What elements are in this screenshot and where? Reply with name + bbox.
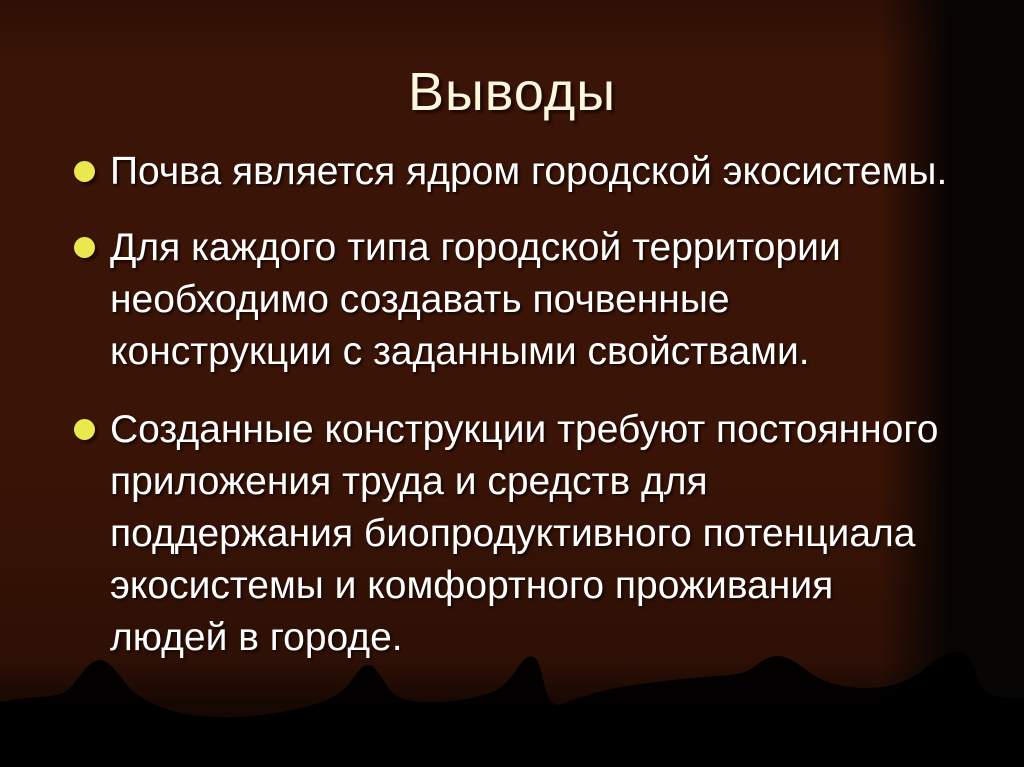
list-item: Для каждого типа городской территории не… [62,222,972,378]
page-title: Выводы [0,62,1024,122]
bullet-list: Почва является ядром городской экосистем… [62,146,972,682]
list-item-text: Почва является ядром городской экосистем… [110,146,972,198]
presentation-slide: Выводы Почва является ядром городской эк… [0,0,1024,767]
list-item-text: Для каждого типа городской территории не… [110,222,972,378]
bullet-dot-icon [74,161,95,182]
list-item-text: Созданные конструкции требуют постоянног… [110,404,972,664]
list-item: Созданные конструкции требуют постоянног… [62,404,972,664]
list-item: Почва является ядром городской экосистем… [62,146,972,198]
bullet-dot-icon [74,237,95,258]
bullet-dot-icon [74,419,95,440]
